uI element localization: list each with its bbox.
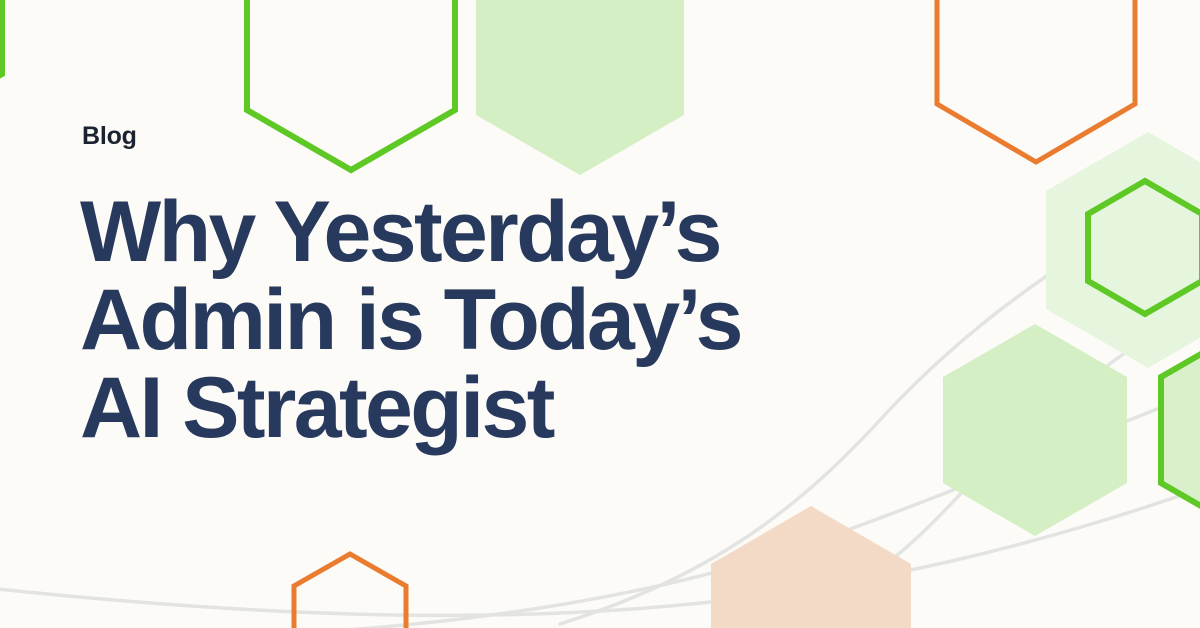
blog-hero-card: Blog Why Yesterday’s Admin is Today’s AI… [0, 0, 1200, 628]
hex-outline-orange-bottom [294, 554, 406, 628]
hex-fill-pale-right [1046, 132, 1200, 368]
hex-fill-green-top [476, 0, 684, 175]
hex-edge-left-clip [0, 0, 2, 130]
decorative-hexagon-background [0, 0, 1200, 628]
hex-outline-green-top [247, 0, 455, 170]
hex-fill-green-large [943, 324, 1127, 536]
hex-fill-peach-bottom [711, 506, 911, 628]
hex-outline-orange-top [937, 0, 1135, 162]
